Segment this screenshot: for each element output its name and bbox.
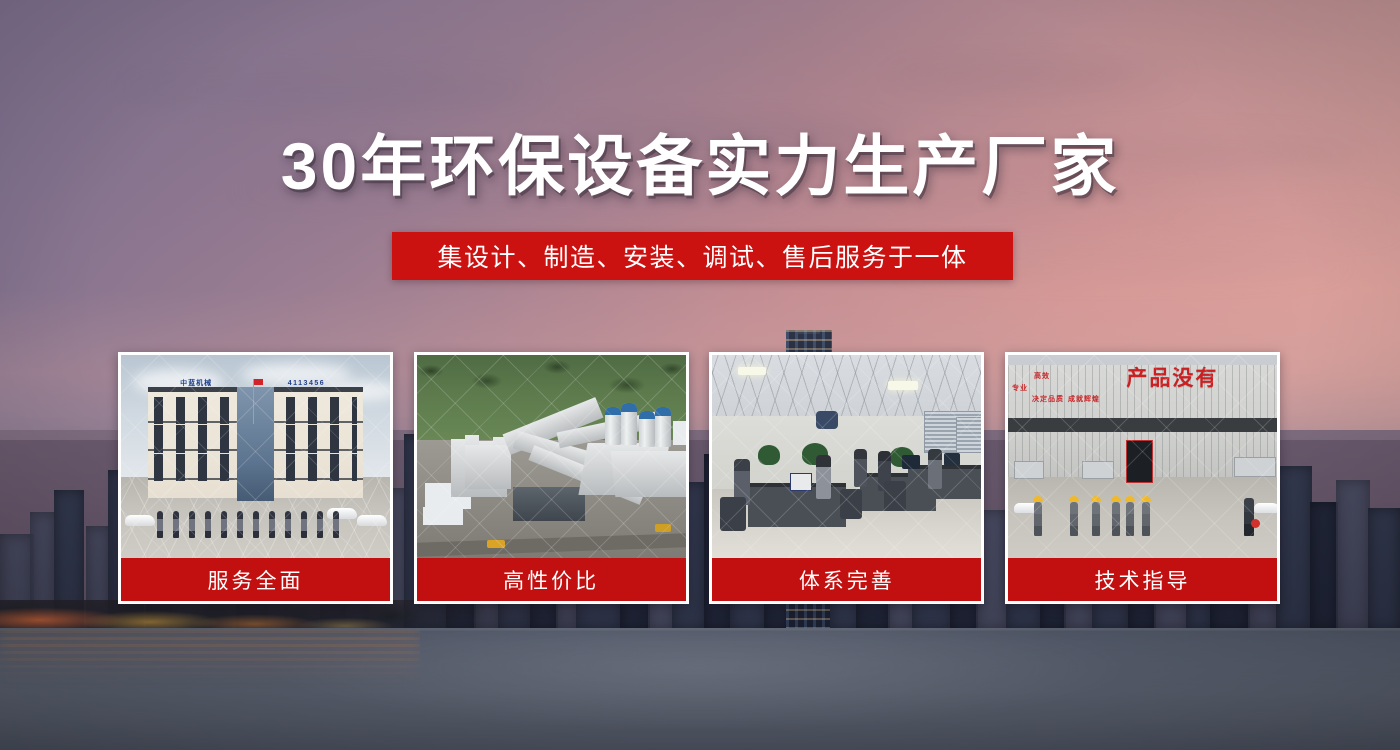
building-sign-phone: 4113456 [288,377,369,389]
card-photo-industrial-plant [417,355,686,558]
subtitle-banner: 集设计、制造、安装、调试、售后服务于一体 [392,232,1013,280]
factory-slogan-small-2: 高效 [1034,371,1050,381]
subtitle-text: 集设计、制造、安装、调试、售后服务于一体 [437,238,967,274]
factory-slogan-small-4: 成就辉煌 [1068,394,1100,404]
card-label-service: 服务全面 [121,558,390,601]
feature-card-system[interactable]: 体系完善 [709,352,984,604]
feature-card-guidance[interactable]: 产品没有 专业 高效 决定品质 成就辉煌 [1005,352,1280,604]
headline-title: 30年环保设备实力生产厂家 [0,133,1400,199]
card-label-guidance: 技术指导 [1008,558,1277,601]
factory-slogan-small-1: 专业 [1012,383,1028,393]
promo-banner: 30年环保设备实力生产厂家 集设计、制造、安装、调试、售后服务于一体 [0,0,1400,750]
feature-card-value[interactable]: 高性价比 [414,352,689,604]
card-photo-office-building: 中蓝机械 4113456 [121,355,390,558]
factory-slogan-small-3: 决定品质 [1032,394,1064,404]
feature-card-service[interactable]: 中蓝机械 4113456 [118,352,393,604]
card-label-system: 体系完善 [712,558,981,601]
card-photo-factory-workers: 产品没有 专业 高效 决定品质 成就辉煌 [1008,355,1277,558]
building-sign-company-name: 中蓝机械 [180,377,234,389]
factory-slogan-large: 产品没有 [1126,361,1277,393]
feature-card-row: 中蓝机械 4113456 [118,352,1280,604]
card-photo-office-interior [712,355,981,558]
card-label-value: 高性价比 [417,558,686,601]
